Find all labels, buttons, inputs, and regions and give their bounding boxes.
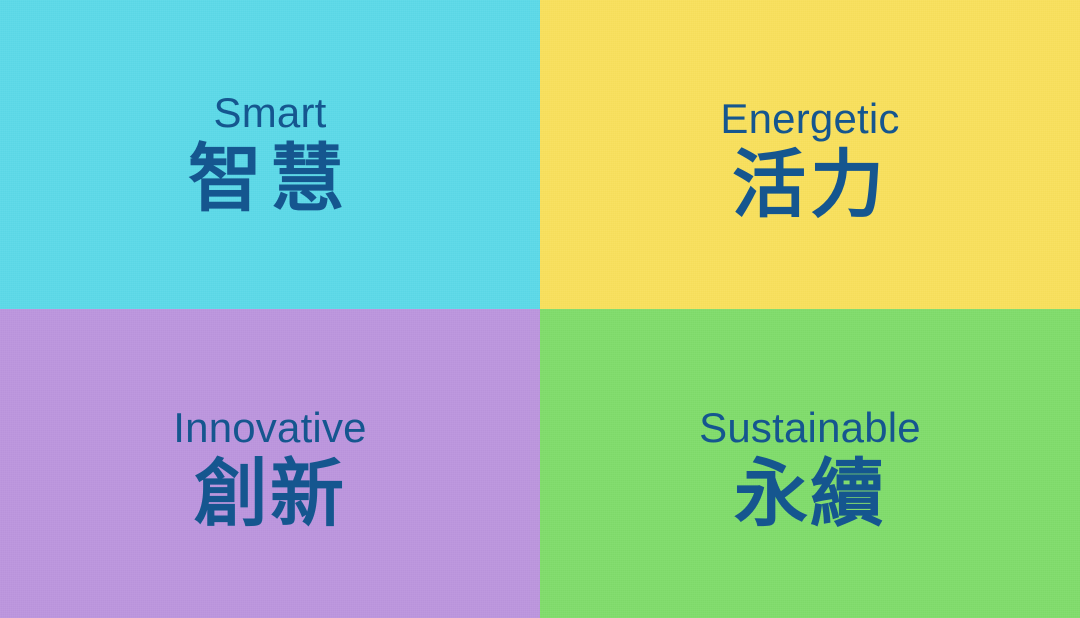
quadrant-energetic-content: Energetic 活力 <box>720 98 899 225</box>
quadrant-smart-chinese-label: 智慧 <box>188 141 352 219</box>
quadrant-innovative-english-label: Innovative <box>173 407 366 450</box>
quadrant-smart-content: Smart 智慧 <box>188 92 352 219</box>
quadrant-smart: Smart 智慧 <box>0 0 540 309</box>
quadrant-sustainable-content: Sustainable 永續 <box>699 407 921 534</box>
quadrant-innovative-chinese-label: 創新 <box>194 456 346 534</box>
quadrant-innovative-content: Innovative 創新 <box>173 407 366 534</box>
quadrant-smart-english-label: Smart <box>213 92 326 135</box>
quadrant-innovative: Innovative 創新 <box>0 309 540 618</box>
quadrant-energetic-english-label: Energetic <box>720 98 899 141</box>
quadrant-sustainable-english-label: Sustainable <box>699 407 921 450</box>
quadrant-sustainable: Sustainable 永續 <box>540 309 1080 618</box>
quadrant-energetic: Energetic 活力 <box>540 0 1080 309</box>
quadrant-sustainable-chinese-label: 永續 <box>734 456 886 534</box>
brand-value-grid: Smart 智慧 Energetic 活力 Innovative 創新 Sust… <box>0 0 1080 618</box>
quadrant-energetic-chinese-label: 活力 <box>732 147 888 225</box>
